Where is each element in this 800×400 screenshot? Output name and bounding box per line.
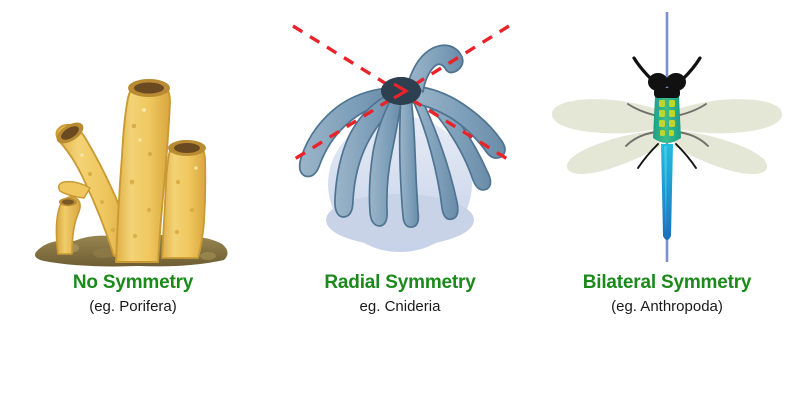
panel-subtitle: (eg. Anthropoda) <box>534 298 800 315</box>
cnidarian-svg <box>275 12 525 272</box>
caption-bilateral-symmetry: Bilateral Symmetry (eg. Anthropoda) <box>534 272 800 315</box>
panel-subtitle: eg. Cnideria <box>267 298 533 315</box>
dragonfly-eye-left <box>648 73 668 91</box>
dragonfly-illustration <box>534 0 800 272</box>
caption-radial-symmetry: Radial Symmetry eg. Cnideria <box>267 272 533 315</box>
panel-no-symmetry: No Symmetry (eg. Porifera) <box>0 0 266 400</box>
cnidarian-illustration <box>267 0 533 272</box>
symmetry-diagram: No Symmetry (eg. Porifera) <box>0 0 800 400</box>
panel-bilateral-symmetry: Bilateral Symmetry (eg. Anthropoda) <box>534 0 800 400</box>
sponge-svg <box>18 22 248 272</box>
dragonfly-svg <box>542 4 792 272</box>
dragonfly-abdomen <box>661 144 673 240</box>
cnidarian-mouth-overlay <box>381 77 421 105</box>
panel-title: Bilateral Symmetry <box>534 272 800 294</box>
dragonfly-eye-right <box>666 73 686 91</box>
dragonfly-thorax <box>653 93 681 143</box>
caption-no-symmetry: No Symmetry (eg. Porifera) <box>0 272 266 315</box>
panel-subtitle: (eg. Porifera) <box>0 298 266 315</box>
panel-radial-symmetry: Radial Symmetry eg. Cnideria <box>267 0 533 400</box>
panel-title: No Symmetry <box>0 272 266 294</box>
sponge-illustration <box>0 0 266 272</box>
sponge-tube-right <box>162 140 206 258</box>
panel-title: Radial Symmetry <box>267 272 533 294</box>
sponge-tube-center <box>116 79 170 262</box>
